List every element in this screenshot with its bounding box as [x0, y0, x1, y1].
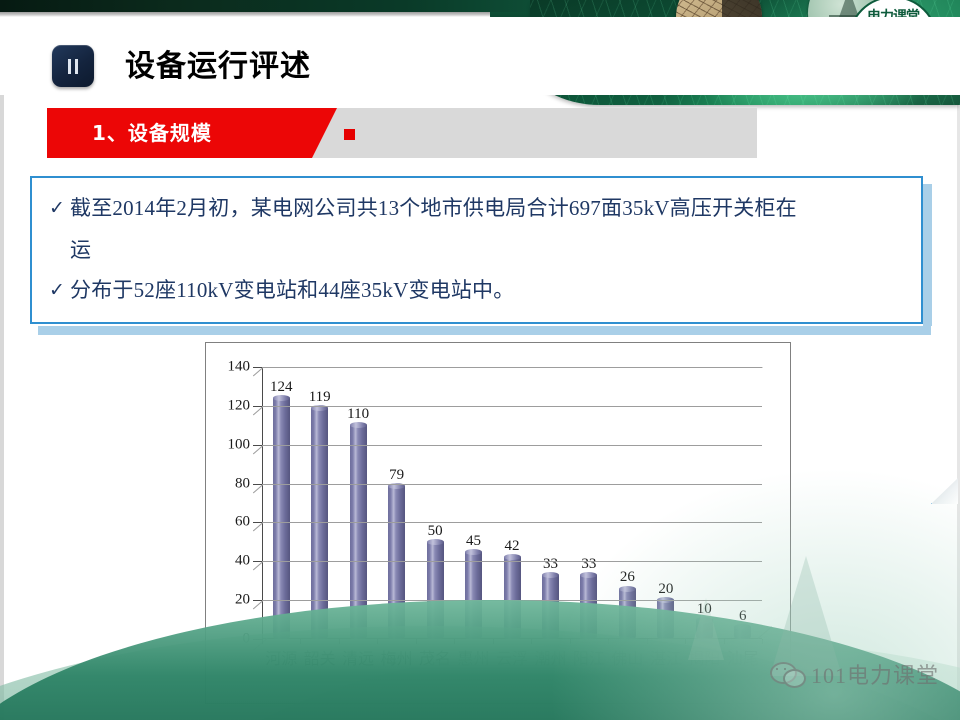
page-header: 设备运行评述 [0, 17, 960, 95]
chart-y-tick-label: 120 [228, 397, 251, 414]
chart-bar-value-label: 42 [505, 538, 520, 555]
page-left-edge [0, 0, 4, 720]
chart-bar [465, 552, 482, 639]
chart-bar-body [273, 398, 290, 639]
page-title: 设备运行评述 [125, 47, 311, 87]
chart-bar-value-label: 124 [270, 379, 293, 396]
chart-x-tick [493, 639, 494, 644]
chart-y-tick-label: 0 [243, 631, 251, 648]
chart-x-tick [531, 639, 532, 644]
text-card-shadow [38, 326, 931, 335]
chart-y-tick-label: 80 [235, 475, 250, 492]
chart-bar-value-label: 79 [389, 467, 404, 484]
chart-y-tick [253, 484, 262, 485]
chart-y-tick [253, 445, 262, 446]
chart-bar-body [350, 425, 367, 639]
pause-bars-glyph [68, 59, 78, 74]
chart-x-tick-label: 惠州 [458, 645, 490, 669]
chart-y-tick [253, 639, 262, 640]
chart-x-tick-label: 河源 [265, 645, 297, 669]
chart-x-tick-label: 云浮 [496, 645, 528, 669]
ghost-pylon-small-icon [688, 598, 724, 660]
chart-bar-body [465, 552, 482, 639]
pause-bars-icon [52, 45, 94, 87]
chart-y-tick [253, 522, 262, 523]
chart-bar-value-label: 110 [347, 406, 369, 423]
chart-x-tick [262, 639, 263, 644]
chart-bar [427, 542, 444, 639]
chart-bar [350, 425, 367, 639]
wechat-icon [770, 662, 804, 686]
chart-bar-value-label: 119 [309, 389, 331, 406]
check-icon: ✓ [44, 270, 70, 310]
wechat-dot [776, 668, 778, 670]
chart-x-tick [300, 639, 301, 644]
check-icon: ✓ [44, 188, 70, 228]
chart-bar-value-label: 45 [466, 533, 481, 550]
chart-bar-body [504, 557, 521, 639]
chart-y-tick-label: 40 [235, 553, 250, 570]
chart-y-tick [253, 561, 262, 562]
chart-x-tick [416, 639, 417, 644]
text-card-shadow-right [923, 184, 932, 326]
bullet-text: 分布于52座110kV变电站和44座35kV变电站中。 [70, 270, 514, 310]
section-banner: 1、设备规模 [47, 108, 757, 158]
chart-x-tick-label: 清远 [342, 645, 374, 669]
square-bullet-icon [344, 129, 355, 140]
list-item: ✓ 截至2014年2月初，某电网公司共13个地市供电局合计697面35kV高压开… [44, 188, 909, 228]
chart-y-tick-label: 100 [228, 436, 251, 453]
chart-x-tick-label: 茂名 [419, 645, 451, 669]
chart-y-tick-label: 20 [235, 592, 250, 609]
chart-x-tick [454, 639, 455, 644]
wechat-dot [784, 668, 786, 670]
chart-x-tick [339, 639, 340, 644]
chart-y-tick-label: 60 [235, 514, 250, 531]
chart-y-tick [253, 406, 262, 407]
chart-gridline [262, 445, 762, 446]
chart-y-tick [253, 367, 262, 368]
chart-bar [504, 557, 521, 639]
wechat-bubble-small [783, 669, 806, 688]
chart-bar-value-label: 50 [428, 523, 443, 540]
bullet-list: ✓ 截至2014年2月初，某电网公司共13个地市供电局合计697面35kV高压开… [44, 188, 909, 312]
watermark: 101电力课堂 [770, 658, 939, 690]
watermark-text: 101电力课堂 [811, 658, 939, 690]
chart-x-tick-label: 韶关 [304, 645, 336, 669]
content-text-card: ✓ 截至2014年2月初，某电网公司共13个地市供电局合计697面35kV高压开… [30, 176, 923, 324]
bullet-text: 截至2014年2月初，某电网公司共13个地市供电局合计697面35kV高压开关柜… [70, 188, 797, 228]
chart-gridline [262, 406, 762, 407]
chart-bar-body [427, 542, 444, 639]
list-item: ✓ 分布于52座110kV变电站和44座35kV变电站中。 [44, 270, 909, 310]
chart-gridline [262, 367, 762, 368]
chart-x-tick-label: 梅州 [381, 645, 413, 669]
bullet-text-continuation: 运 [70, 230, 909, 270]
chart-y-tick-label: 140 [228, 359, 251, 376]
chart-bar [273, 398, 290, 639]
chart-x-tick [377, 639, 378, 644]
section-title: 1、设备规模 [92, 120, 322, 146]
chart-y-tick [253, 600, 262, 601]
